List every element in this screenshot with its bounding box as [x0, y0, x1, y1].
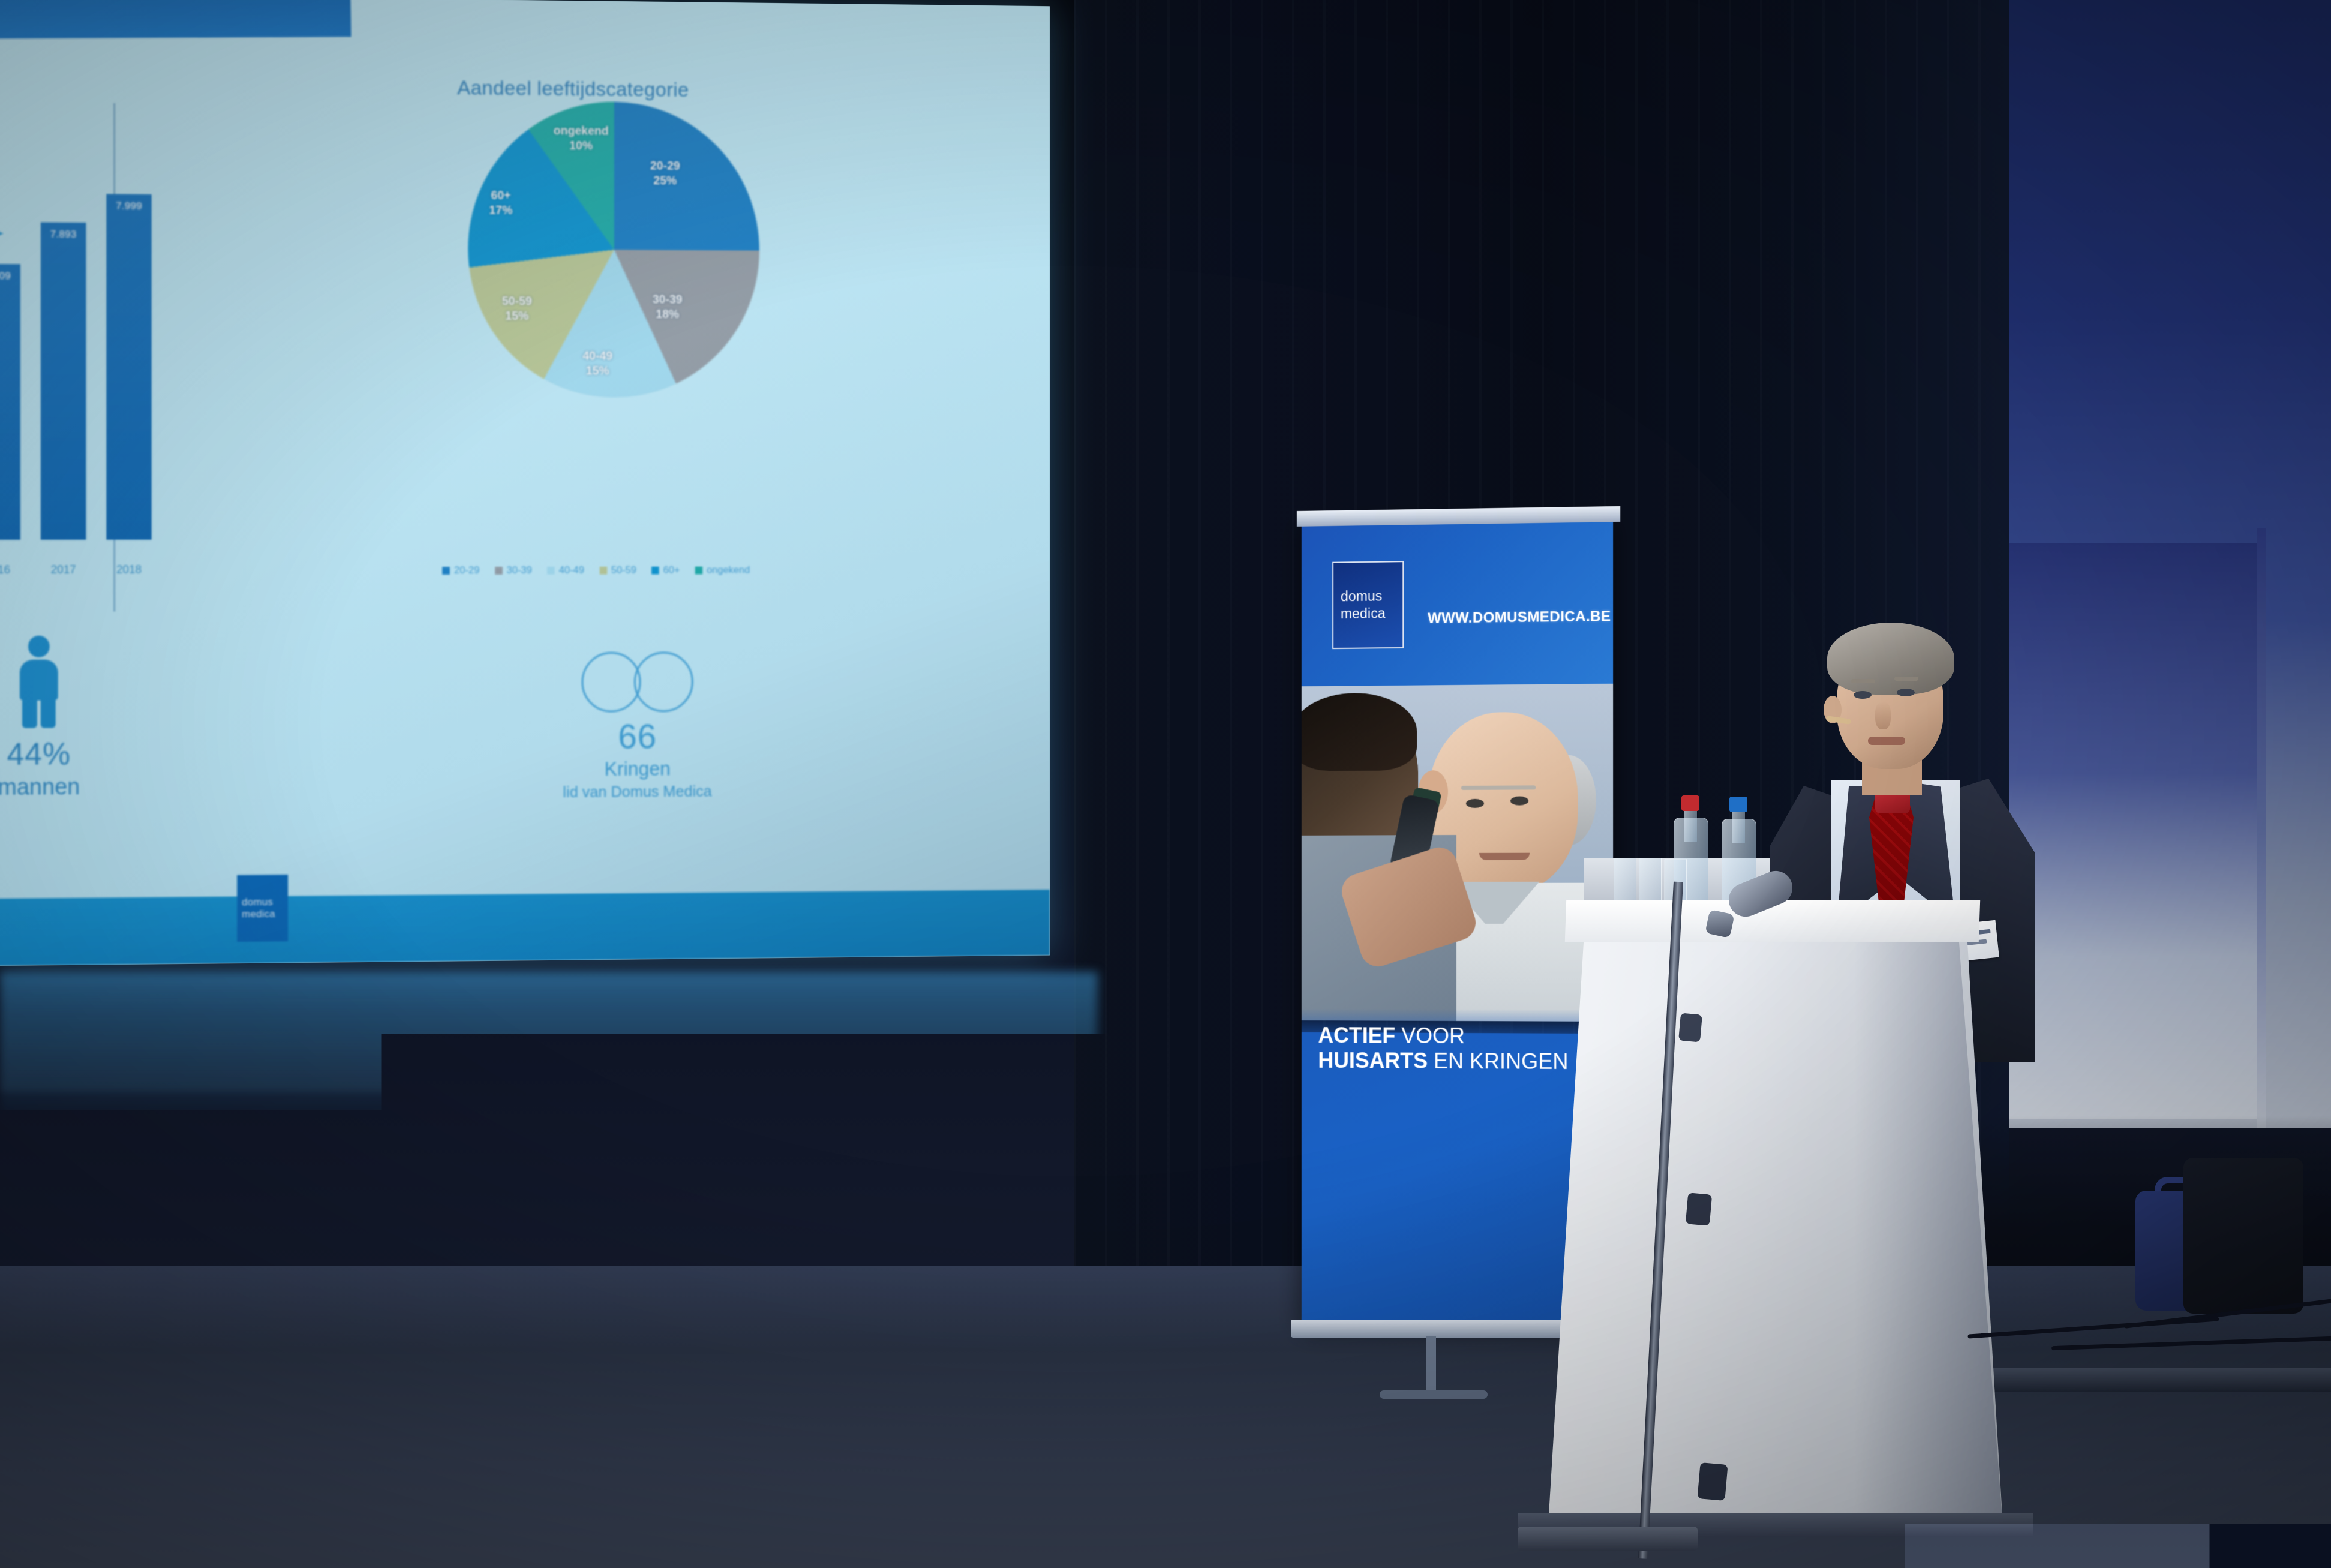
- banner-tagline-bold-1: ACTIEF: [1318, 1023, 1395, 1047]
- legend-item-40-49: 40-49: [547, 564, 584, 576]
- screen-reflection: [0, 984, 1092, 1092]
- slide-title-bar: Leden Domus Medica: [0, 0, 351, 39]
- banner-base-foot: [1380, 1390, 1488, 1399]
- pie-label-30-39: 30-3918%: [653, 293, 683, 322]
- banner-logo-line1: domus: [1341, 587, 1395, 605]
- legend-swatch-icon: [695, 566, 703, 574]
- bar-value-2017: 7.893: [41, 228, 86, 240]
- floor-cables: [1967, 1302, 2331, 1356]
- kringen-sublabel: lid van Domus Medica: [515, 782, 759, 801]
- male-percentage-label: mannen: [0, 774, 137, 801]
- banner-support-leg: [1426, 1336, 1436, 1392]
- legend-label: ongekend: [707, 564, 750, 576]
- legend-item-20-29: 20-29: [443, 564, 480, 576]
- banner-tagline-bold-2: HUISARTS: [1318, 1048, 1428, 1073]
- pie-label-50-59: 50-5915%: [502, 294, 532, 324]
- banner-header: domus medica WWW.DOMUSMEDICA.BE: [1302, 522, 1613, 686]
- equipment-case-black: [2183, 1158, 2303, 1314]
- pie-label-20-29: 20-2925%: [650, 159, 680, 189]
- bar-2017: 7.893 2017: [41, 223, 86, 540]
- microphone-base-plate: [1518, 1527, 1698, 1551]
- male-figure-icon: [17, 636, 61, 726]
- slide-domus-medica-logo: domus medica: [237, 875, 288, 942]
- legend-item-60-: 60+: [651, 564, 680, 576]
- bar-year-2018: 2018: [106, 564, 151, 577]
- male-percentage-stat: 44% mannen: [0, 635, 137, 801]
- legend-swatch-icon: [651, 566, 659, 574]
- stage-door[interactable]: [2009, 543, 2265, 1119]
- microphone-joint: [1705, 909, 1734, 938]
- bar-value-2016: 3.709: [0, 270, 20, 282]
- legend-item-ongekend: ongekend: [695, 564, 750, 576]
- kringen-number: 66: [515, 716, 759, 757]
- bar-chart-panel: 3.709 2016 7.893 2017 7.999 2018: [0, 101, 115, 612]
- pie-chart-disc: [468, 100, 759, 398]
- bar-year-2017: 2017: [41, 564, 86, 577]
- bar-2018: 7.999 2018: [106, 194, 151, 540]
- bar-value-2018: 7.999: [106, 200, 151, 212]
- presentation-slide: Leden Domus Medica 3.709 2016: [0, 0, 1050, 966]
- stage-edge: [1967, 1368, 2331, 1392]
- legend-item-30-39: 30-39: [495, 564, 532, 576]
- drinking-glass: [1639, 858, 1662, 906]
- slide-logo-line2: medica: [242, 908, 283, 920]
- microphone-clamp: [1678, 1013, 1702, 1043]
- slide-logo-line1: domus: [242, 896, 283, 908]
- lectern: [1542, 900, 2003, 1548]
- pie-chart-title: Aandeel leeftijdscategorie: [409, 76, 736, 103]
- male-percentage-value: 44%: [0, 736, 137, 773]
- legend-label: 20-29: [454, 564, 480, 576]
- legend-swatch-icon: [495, 567, 503, 575]
- microphone-clamp: [1686, 1192, 1712, 1225]
- kringen-label: Kringen: [515, 757, 759, 781]
- legend-swatch-icon: [547, 566, 555, 574]
- banner-domus-medica-logo: domus medica: [1332, 561, 1404, 649]
- legend-item-50-59: 50-59: [599, 564, 636, 576]
- projection-screen-wrapper: Leden Domus Medica 3.709 2016: [0, 0, 1058, 1038]
- legend-label: 30-39: [507, 564, 532, 576]
- pie-chart-legend: 20-2930-3940-4950-5960+ongekend: [433, 564, 759, 576]
- pie-chart: 20-2925% 30-3918% 40-4915% 50-5915% 60+1: [468, 100, 771, 410]
- legend-swatch-icon: [599, 566, 607, 574]
- slide-footer-bar: [0, 890, 1050, 966]
- two-interlocking-circles-icon: [573, 651, 701, 710]
- legend-label: 40-49: [559, 564, 584, 576]
- projection-screen: Leden Domus Medica 3.709 2016: [0, 0, 1050, 966]
- banner-tagline-rest-1: VOOR: [1401, 1023, 1465, 1048]
- bar-2016: 3.709 2016: [0, 264, 20, 540]
- pie-label-ongekend: ongekend10%: [554, 124, 609, 154]
- pie-label-40-49: 40-4915%: [582, 349, 612, 379]
- conference-stage-photo: Leden Domus Medica 3.709 2016: [0, 0, 2331, 1568]
- legend-label: 60+: [663, 564, 680, 576]
- pie-label-60-plus: 60+17%: [489, 188, 513, 218]
- bar-year-2016: 2016: [0, 564, 20, 577]
- banner-logo-line2: medica: [1341, 605, 1395, 623]
- legend-swatch-icon: [443, 567, 450, 575]
- door-frame: [2257, 528, 2266, 1128]
- kringen-stat: 66 Kringen lid van Domus Medica: [515, 651, 759, 801]
- legend-label: 50-59: [611, 564, 636, 576]
- banner-website-url: WWW.DOMUSMEDICA.BE: [1428, 608, 1611, 627]
- bar-chart-bars: 3.709 2016 7.893 2017 7.999 2018: [0, 131, 113, 540]
- microphone-clamp: [1697, 1462, 1728, 1501]
- drinking-glass: [1614, 858, 1636, 906]
